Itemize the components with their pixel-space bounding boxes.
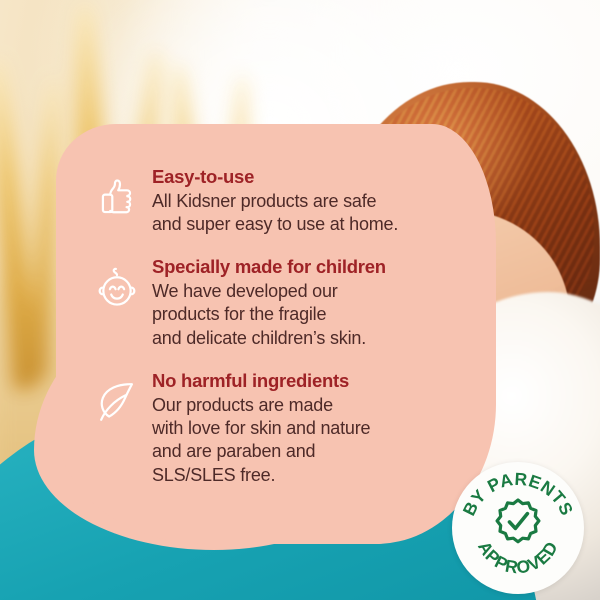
feature-text: Easy-to-use All Kidsner products are saf… — [148, 166, 486, 236]
feature-title: No harmful ingredients — [152, 370, 486, 393]
feature-title: Specially made for children — [152, 256, 486, 279]
feature-body: All Kidsner products are safe and super … — [152, 190, 486, 237]
badge-bottom-text: APPROVED — [474, 538, 562, 578]
feature-item-made-for-children: Specially made for children We have deve… — [86, 256, 486, 350]
feature-text: No harmful ingredients Our products are … — [148, 370, 486, 487]
feature-title: Easy-to-use — [152, 166, 486, 189]
badge-artwork: BY PARENTS APPROVED — [452, 462, 584, 594]
leaf-icon — [86, 370, 148, 426]
thumbs-up-icon — [86, 166, 148, 220]
badge-top-text: BY PARENTS — [459, 469, 578, 519]
feature-list: Easy-to-use All Kidsner products are saf… — [86, 166, 486, 487]
checkmark-seal-icon — [497, 500, 539, 542]
feature-body: We have developed our products for the f… — [152, 280, 486, 350]
baby-face-icon — [86, 256, 148, 314]
feature-text: Specially made for children We have deve… — [148, 256, 486, 350]
by-parents-approved-badge: BY PARENTS APPROVED — [452, 462, 584, 594]
feature-body: Our products are made with love for skin… — [152, 394, 486, 488]
feature-item-no-harmful-ingredients: No harmful ingredients Our products are … — [86, 370, 486, 487]
feature-item-easy-to-use: Easy-to-use All Kidsner products are saf… — [86, 166, 486, 236]
marketing-image: Easy-to-use All Kidsner products are saf… — [0, 0, 600, 600]
